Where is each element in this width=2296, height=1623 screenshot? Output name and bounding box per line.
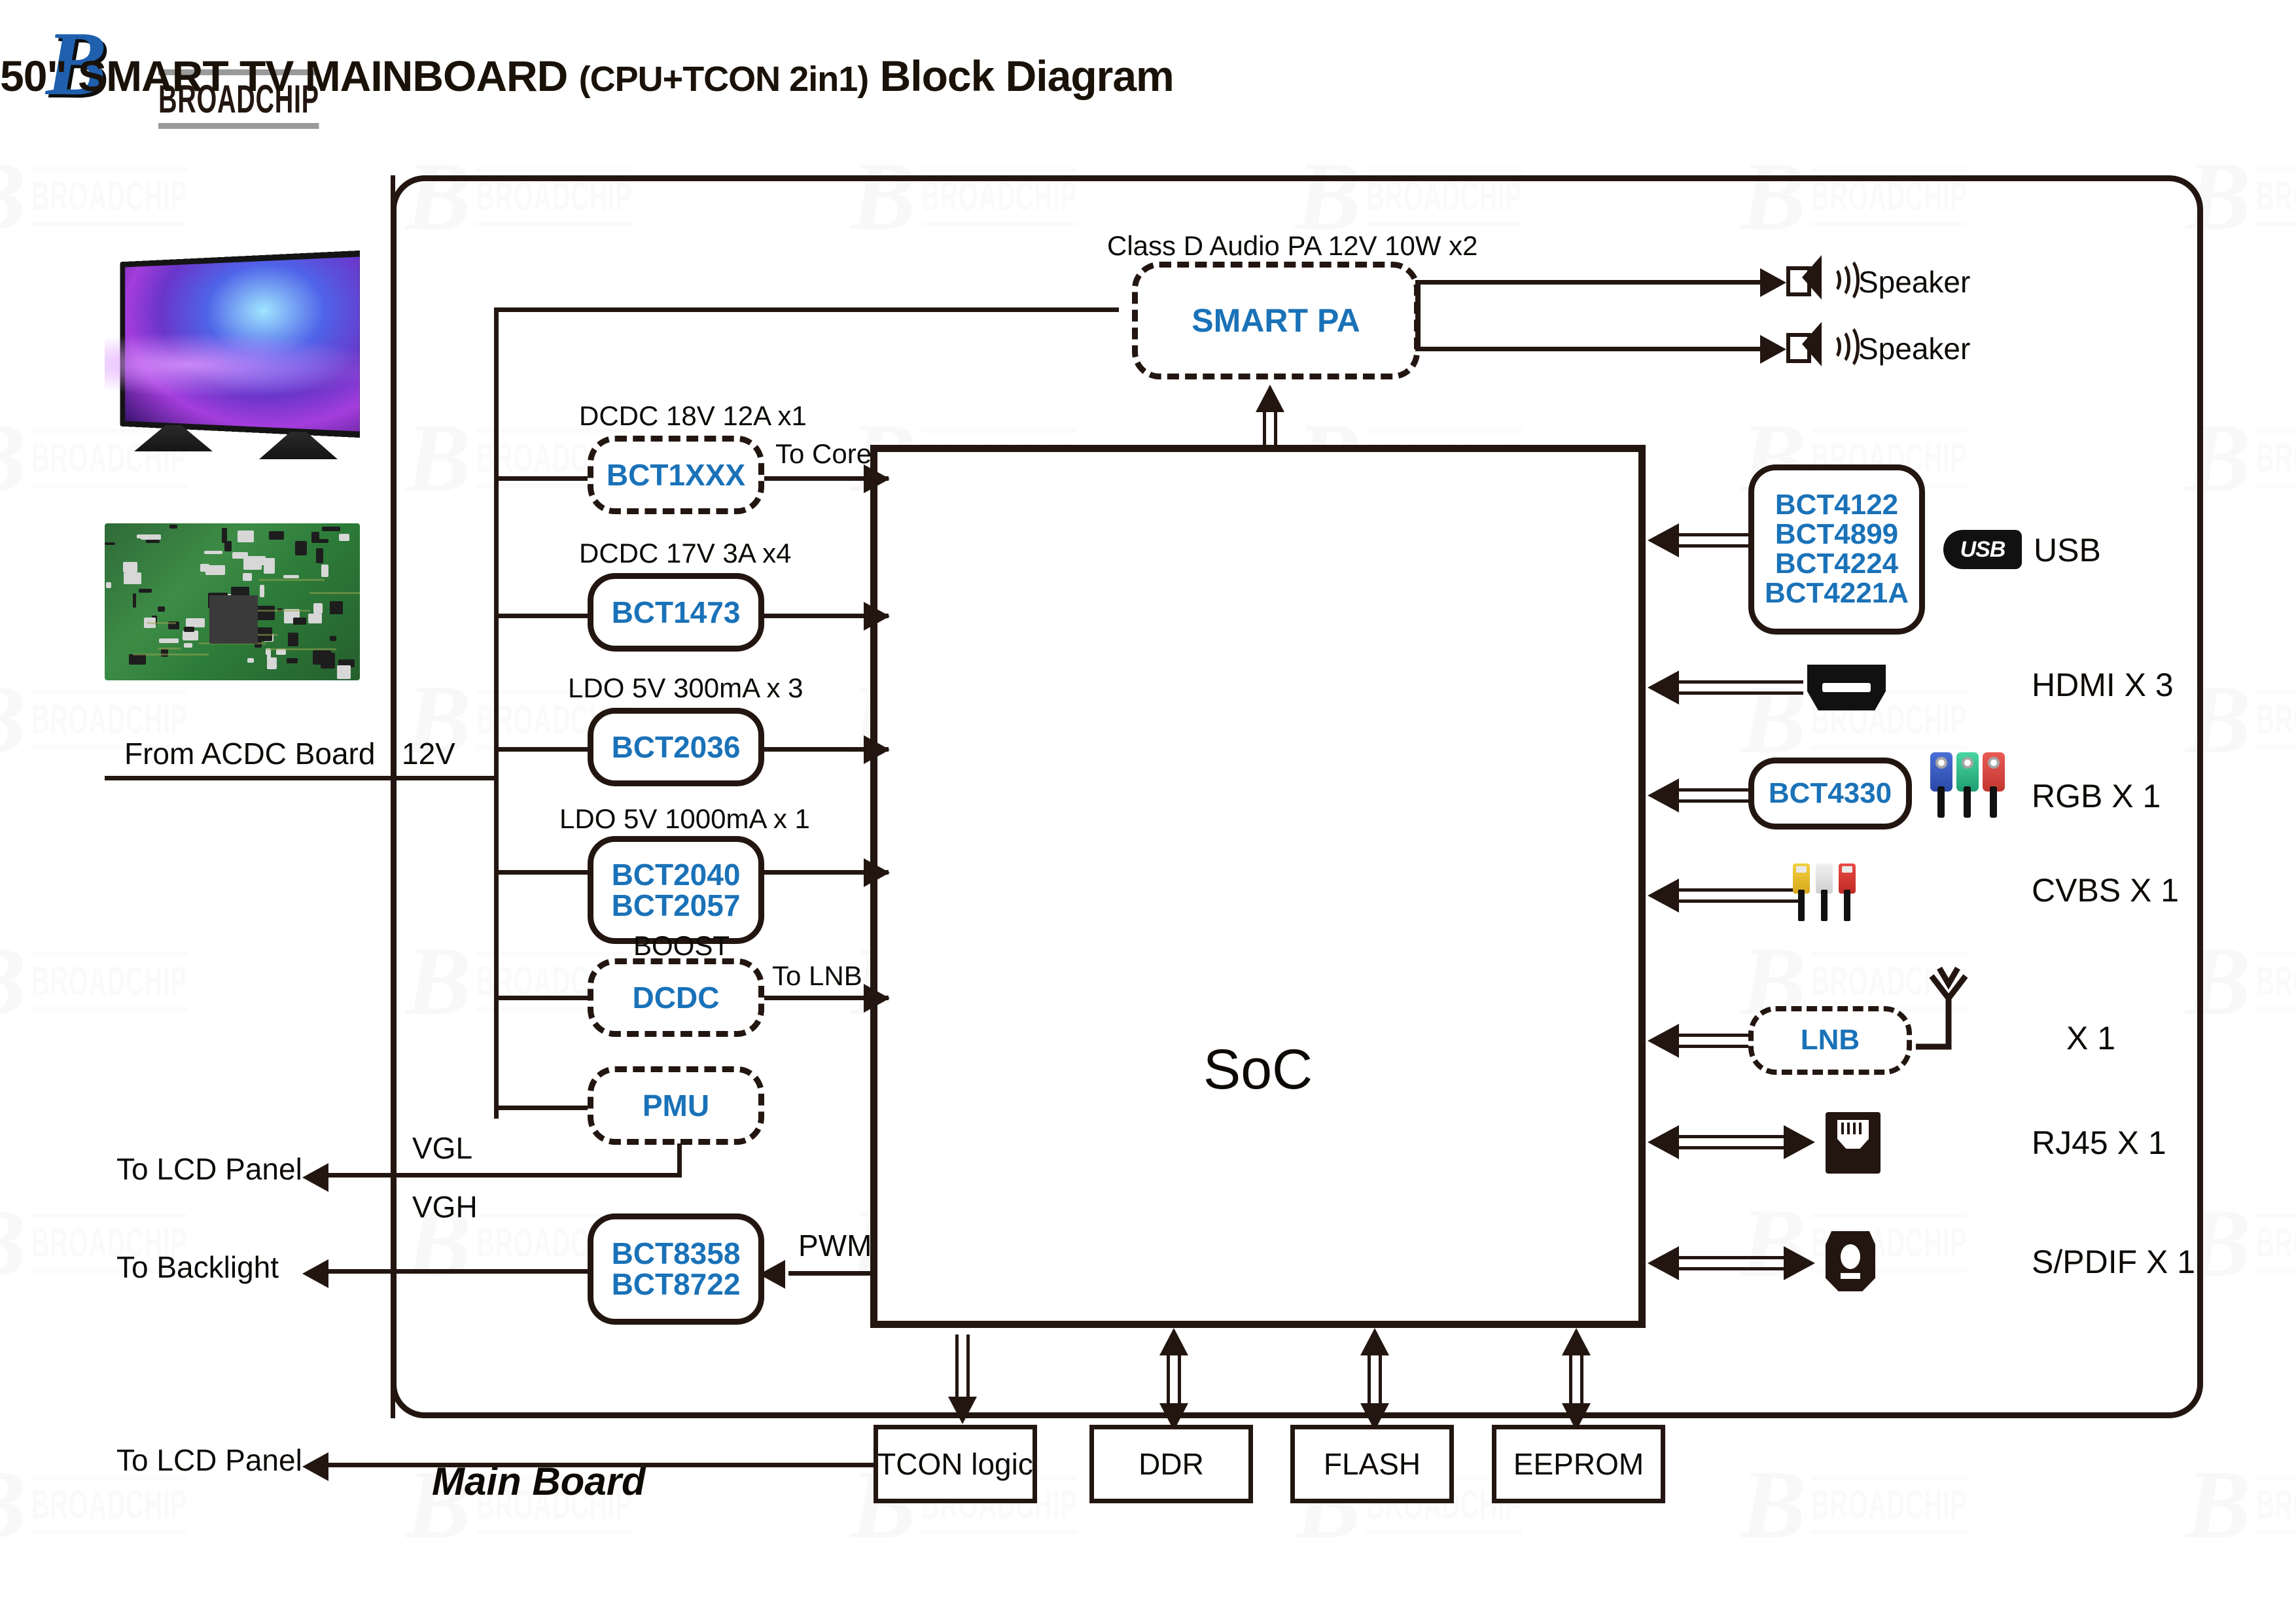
soc-label: SoC <box>1203 1038 1313 1102</box>
memory-block-ddr: DDR <box>1089 1425 1253 1503</box>
speaker-2-label: Speaker <box>1858 331 1970 366</box>
rj45-link-arrow-left <box>1648 1125 1679 1159</box>
memory-label-0: TCON logic <box>877 1446 1033 1482</box>
rail-out-arrow-4 <box>864 984 890 1013</box>
chip-label-2-0: BCT2036 <box>612 732 741 763</box>
rj45-label: RJ45 X 1 <box>2032 1124 2166 1162</box>
flash-link-arrow-up <box>1360 1328 1389 1355</box>
watermark: BBROADCHIP <box>2185 1465 2296 1544</box>
vgl-label: VGL <box>412 1130 472 1166</box>
rgb-icon <box>1930 752 2015 824</box>
cvbs-link-arrow <box>1648 879 1679 913</box>
rail-caption-2: LDO 5V 300mA x 3 <box>568 672 804 704</box>
lnb-label: X 1 <box>2066 1019 2115 1057</box>
speaker-icon-1 <box>1786 255 1835 300</box>
tcon-out-line <box>327 1463 874 1467</box>
power-block-bct1473: BCT1473 <box>588 573 764 652</box>
cvbs-icon <box>1793 864 1863 926</box>
power-block-pmu: PMU <box>588 1066 764 1145</box>
rail-out-arrow-0 <box>864 464 890 493</box>
lnb-chip-0: LNB <box>1801 1026 1860 1055</box>
lnb-link-line <box>1679 1034 1751 1048</box>
eeprom-link-arrow-up <box>1562 1328 1591 1355</box>
backlight-chip-1: BCT8722 <box>612 1269 741 1300</box>
spdif-link-arrow-left <box>1648 1246 1679 1280</box>
rail-caption-0: DCDC 18V 12A x1 <box>579 400 807 432</box>
chip-label-3-1: BCT2057 <box>612 890 741 921</box>
memory-block-flash: FLASH <box>1290 1425 1454 1503</box>
backlight-out-line <box>327 1269 589 1274</box>
page-title: 50" SMART TV MAINBOARD (CPU+TCON 2in1) B… <box>0 51 1174 101</box>
chip-label-4-0: DCDC <box>633 983 720 1013</box>
tcon-link-line <box>955 1335 970 1400</box>
tv-screen <box>120 250 360 438</box>
spdif-link-line <box>1679 1256 1784 1270</box>
rail-in-line-3 <box>494 870 589 875</box>
lnb-block: LNB <box>1748 1006 1912 1075</box>
usb-chip-0: BCT4122 <box>1775 491 1898 520</box>
hdmi-link-arrow <box>1648 671 1679 705</box>
watermark: BBROADCHIP <box>1740 1465 2063 1544</box>
power-block-bct1xxx: BCT1XXX <box>588 436 764 514</box>
ddr-link-arrow-up <box>1159 1328 1188 1355</box>
acdc-input-label: From ACDC Board <box>124 736 375 771</box>
rgb-label: RGB X 1 <box>2032 777 2161 815</box>
rgb-chip-0: BCT4330 <box>1769 779 1892 809</box>
usb-icon: USB <box>1943 530 2022 569</box>
spdif-link-arrow-right <box>1784 1246 1815 1280</box>
hdmi-link-line <box>1679 680 1803 695</box>
pwm-label: PWM <box>798 1228 872 1263</box>
chip-label-5-0: PMU <box>643 1091 709 1121</box>
hdmi-icon <box>1807 665 1886 710</box>
smart-pa-block: SMART PA <box>1132 262 1420 379</box>
rj45-link-line <box>1679 1135 1784 1149</box>
antenna-icon <box>1909 962 1988 1060</box>
power-block-bct2036: BCT2036 <box>588 708 764 786</box>
title-tail: Block Diagram <box>880 52 1174 100</box>
rail-out-arrow-3 <box>864 858 890 887</box>
power-block-bct2040-bct2057: BCT2040 BCT2057 <box>588 836 764 944</box>
speaker-icon-2 <box>1786 322 1835 366</box>
soc-to-pa-line <box>1263 409 1277 448</box>
rail-in-line-5 <box>494 1106 589 1110</box>
eeprom-link-line <box>1569 1353 1583 1406</box>
flash-link-line <box>1368 1353 1382 1406</box>
title-paren: (CPU+TCON 2in1) <box>579 60 869 99</box>
usb-link-arrow-left <box>1648 523 1679 557</box>
memory-block-tcon: TCON logic <box>874 1425 1037 1503</box>
watermark: BBROADCHIP <box>0 942 283 1021</box>
pwm-line <box>788 1271 877 1276</box>
board-left-edge-line <box>391 175 395 1418</box>
rgb-link-line <box>1679 788 1751 803</box>
rail-out-arrow-1 <box>864 602 890 631</box>
hdmi-label: HDMI X 3 <box>2032 666 2174 704</box>
vgh-label: VGH <box>412 1189 478 1225</box>
pa-out-bus <box>1415 281 1421 350</box>
memory-label-3: EEPROM <box>1513 1446 1644 1482</box>
rgb-chip-block: BCT4330 <box>1748 758 1912 829</box>
speaker-2-line <box>1415 347 1772 351</box>
smartpa-supply-line <box>494 307 1119 312</box>
tv-product-photo <box>98 247 360 463</box>
spdif-icon <box>1826 1231 1875 1291</box>
rail-in-line-4 <box>494 996 589 1000</box>
ddr-link-line <box>1167 1353 1181 1406</box>
backlight-out-arrow <box>302 1259 328 1288</box>
watermark: BBROADCHIP <box>0 157 283 236</box>
usb-label: USB <box>2034 531 2101 569</box>
smart-pa-label: SMART PA <box>1192 304 1360 338</box>
speaker-1-arrow <box>1760 268 1786 297</box>
backlight-driver-block: BCT8358 BCT8722 <box>588 1213 764 1325</box>
rail-12v-label: 12V <box>402 736 455 771</box>
backlight-chip-0: BCT8358 <box>612 1238 741 1269</box>
soc-to-pa-arrow <box>1256 385 1284 412</box>
chip-label-1-0: BCT1473 <box>612 597 741 628</box>
cvbs-label: CVBS X 1 <box>2032 871 2179 909</box>
rail-caption-1: DCDC 17V 3A x4 <box>579 538 791 569</box>
usb-link-line <box>1679 533 1751 548</box>
rail-in-line-1 <box>494 614 589 618</box>
audio-caption: Class D Audio PA 12V 10W x2 <box>1107 230 1478 262</box>
tcon-link-arrow <box>948 1397 977 1424</box>
rail-caption-4: BOOST <box>633 930 730 962</box>
rail-caption-3: LDO 5V 1000mA x 1 <box>559 803 810 835</box>
spdif-label: S/PDIF X 1 <box>2032 1243 2195 1281</box>
power-block-boost-dcdc: DCDC <box>588 958 764 1037</box>
rail-out-arrow-2 <box>864 735 890 764</box>
vgl-line <box>327 1173 680 1178</box>
chip-label-3-0: BCT2040 <box>612 860 741 890</box>
usb-chip-2: BCT4224 <box>1775 550 1898 579</box>
rj45-icon <box>1826 1112 1881 1174</box>
vgl-arrow <box>302 1163 328 1192</box>
usb-chip-block: BCT4122 BCT4899 BCT4224 BCT4221A <box>1748 464 1925 635</box>
soc-block: SoC <box>870 445 1646 1328</box>
usb-chip-1: BCT4899 <box>1775 520 1898 550</box>
speaker-1-label: Speaker <box>1858 264 1970 300</box>
mainboard-pcb-photo <box>105 523 360 680</box>
to-backlight-label: To Backlight <box>116 1249 279 1285</box>
usb-chip-3: BCT4221A <box>1765 579 1909 608</box>
rgb-link-arrow <box>1648 778 1679 812</box>
pwm-arrow <box>759 1260 785 1289</box>
lnb-link-arrow <box>1648 1024 1679 1058</box>
title-main: 50" SMART TV MAINBOARD <box>0 52 567 100</box>
rj45-link-arrow-right <box>1784 1125 1815 1159</box>
memory-label-1: DDR <box>1139 1446 1204 1482</box>
to-lcd-panel-tcon-label: To LCD Panel <box>116 1442 302 1478</box>
rail-out-label-4: To LNB <box>772 960 862 992</box>
rail-12v-line <box>391 776 499 780</box>
rail-out-label-0: To Core <box>775 438 872 470</box>
cvbs-link-line <box>1679 888 1803 903</box>
tcon-out-arrow <box>302 1452 328 1481</box>
rail-in-line-0 <box>494 476 589 481</box>
chip-label-0-0: BCT1XXX <box>607 460 745 491</box>
memory-label-2: FLASH <box>1324 1446 1421 1482</box>
speaker-2-arrow <box>1760 335 1786 364</box>
speaker-1-line <box>1415 280 1772 285</box>
rail-in-line-2 <box>494 747 589 752</box>
memory-block-eeprom: EEPROM <box>1492 1425 1665 1503</box>
to-lcd-panel-label: To LCD Panel <box>116 1151 302 1187</box>
